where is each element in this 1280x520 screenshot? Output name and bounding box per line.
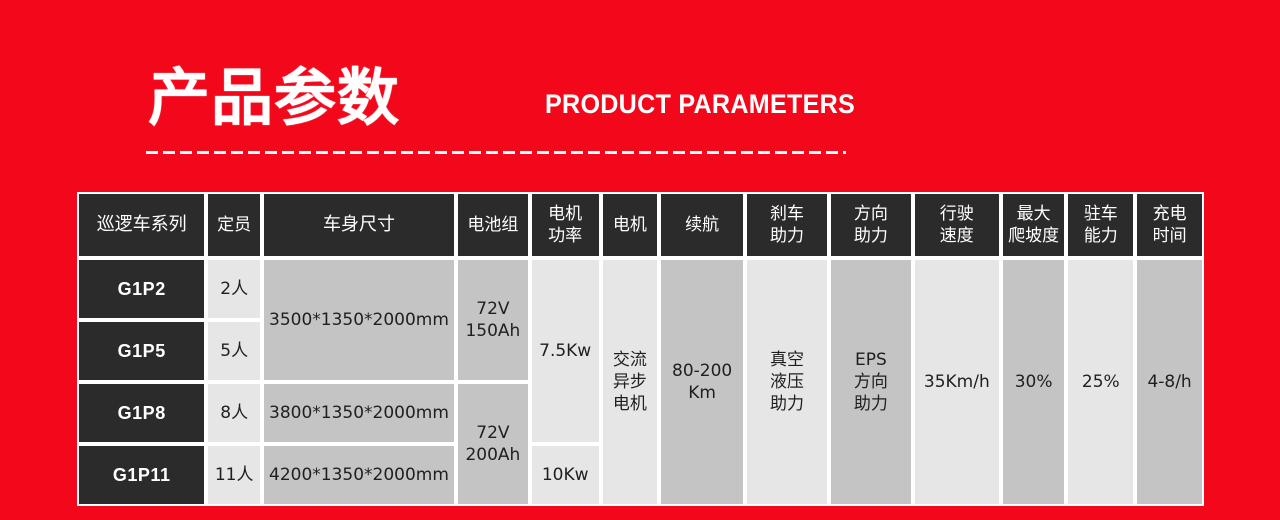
page-title-english: PRODUCT PARAMETERS xyxy=(545,89,855,120)
column-header-capacity: 定员 xyxy=(206,192,262,258)
page-header: 产品参数 PRODUCT PARAMETERS xyxy=(0,0,1280,186)
column-header-park-ability: 驻车 能力 xyxy=(1066,192,1135,258)
column-header-battery: 电池组 xyxy=(456,192,530,258)
column-header-max-grade: 最大 爬坡度 xyxy=(1001,192,1067,258)
table-header-row: 巡逻车系列 定员 车身尺寸 电池组 电机 功率 电机 续航 刹车 助力 方向 助… xyxy=(77,192,1204,258)
dashed-divider xyxy=(146,151,846,154)
cell-series-g1p11: G1P11 xyxy=(77,444,206,506)
cell-dimensions-g1p2-g1p5: 3500*1350*2000mm xyxy=(262,258,456,382)
cell-battery-g1p2-g1p5: 72V 150Ah xyxy=(456,258,530,382)
spec-table: 巡逻车系列 定员 车身尺寸 电池组 电机 功率 电机 续航 刹车 助力 方向 助… xyxy=(77,192,1204,506)
cell-motor-power-7-5kw: 7.5Kw xyxy=(530,258,601,444)
cell-brake-assist: 真空 液压 助力 xyxy=(745,258,829,506)
cell-capacity-g1p2: 2人 xyxy=(206,258,262,320)
cell-steer-assist: EPS 方向 助力 xyxy=(829,258,913,506)
cell-capacity-g1p8: 8人 xyxy=(206,382,262,444)
table-row: G1P2 2人 3500*1350*2000mm 72V 150Ah 7.5Kw… xyxy=(77,258,1204,320)
column-header-steer-assist: 方向 助力 xyxy=(829,192,913,258)
cell-series-g1p2: G1P2 xyxy=(77,258,206,320)
column-header-brake-assist: 刹车 助力 xyxy=(745,192,829,258)
column-header-dimensions: 车身尺寸 xyxy=(262,192,456,258)
cell-range: 80-200 Km xyxy=(659,258,745,506)
cell-capacity-g1p5: 5人 xyxy=(206,320,262,382)
page-title-chinese: 产品参数 xyxy=(148,64,400,132)
column-header-motor-power: 电机 功率 xyxy=(530,192,601,258)
column-header-speed: 行驶 速度 xyxy=(913,192,1001,258)
cell-series-g1p8: G1P8 xyxy=(77,382,206,444)
cell-max-grade: 30% xyxy=(1001,258,1067,506)
cell-park-ability: 25% xyxy=(1066,258,1135,506)
cell-charge-time: 4-8/h xyxy=(1135,258,1204,506)
cell-speed: 35Km/h xyxy=(913,258,1001,506)
column-header-charge-time: 充电 时间 xyxy=(1135,192,1204,258)
cell-dimensions-g1p11: 4200*1350*2000mm xyxy=(262,444,456,506)
title-row: 产品参数 PRODUCT PARAMETERS xyxy=(148,48,878,132)
cell-series-g1p5: G1P5 xyxy=(77,320,206,382)
product-parameters-table: 巡逻车系列 定员 车身尺寸 电池组 电机 功率 电机 续航 刹车 助力 方向 助… xyxy=(77,192,1204,502)
cell-capacity-g1p11: 11人 xyxy=(206,444,262,506)
cell-motor-power-10kw: 10Kw xyxy=(530,444,601,506)
cell-battery-g1p8-g1p11: 72V 200Ah xyxy=(456,382,530,506)
column-header-series: 巡逻车系列 xyxy=(77,192,206,258)
column-header-motor: 电机 xyxy=(601,192,660,258)
cell-motor: 交流 异步 电机 xyxy=(601,258,660,506)
cell-dimensions-g1p8: 3800*1350*2000mm xyxy=(262,382,456,444)
column-header-range: 续航 xyxy=(659,192,745,258)
